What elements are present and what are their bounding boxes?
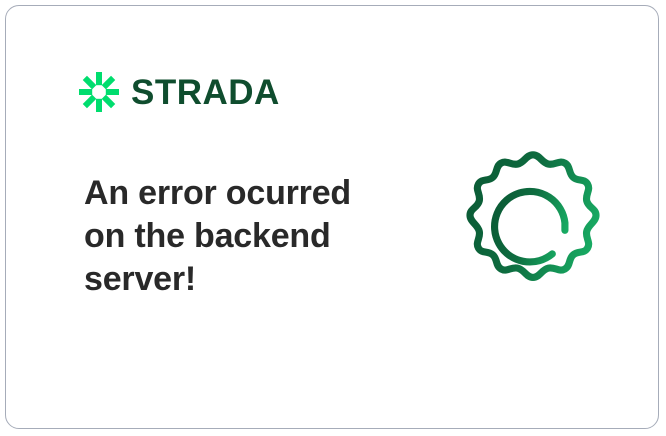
gear-cog-icon	[449, 143, 617, 311]
error-card: STRADA An error ocurred on the backend s…	[5, 5, 659, 429]
brand-lockup: STRADA	[79, 72, 280, 112]
error-message-line: on the backend	[84, 215, 384, 258]
error-message: An error ocurred on the backend server!	[84, 172, 384, 301]
strada-asterisk-icon	[79, 72, 119, 112]
error-message-line: server!	[84, 258, 384, 301]
error-message-line: An error ocurred	[84, 172, 384, 215]
brand-wordmark: STRADA	[131, 75, 280, 110]
